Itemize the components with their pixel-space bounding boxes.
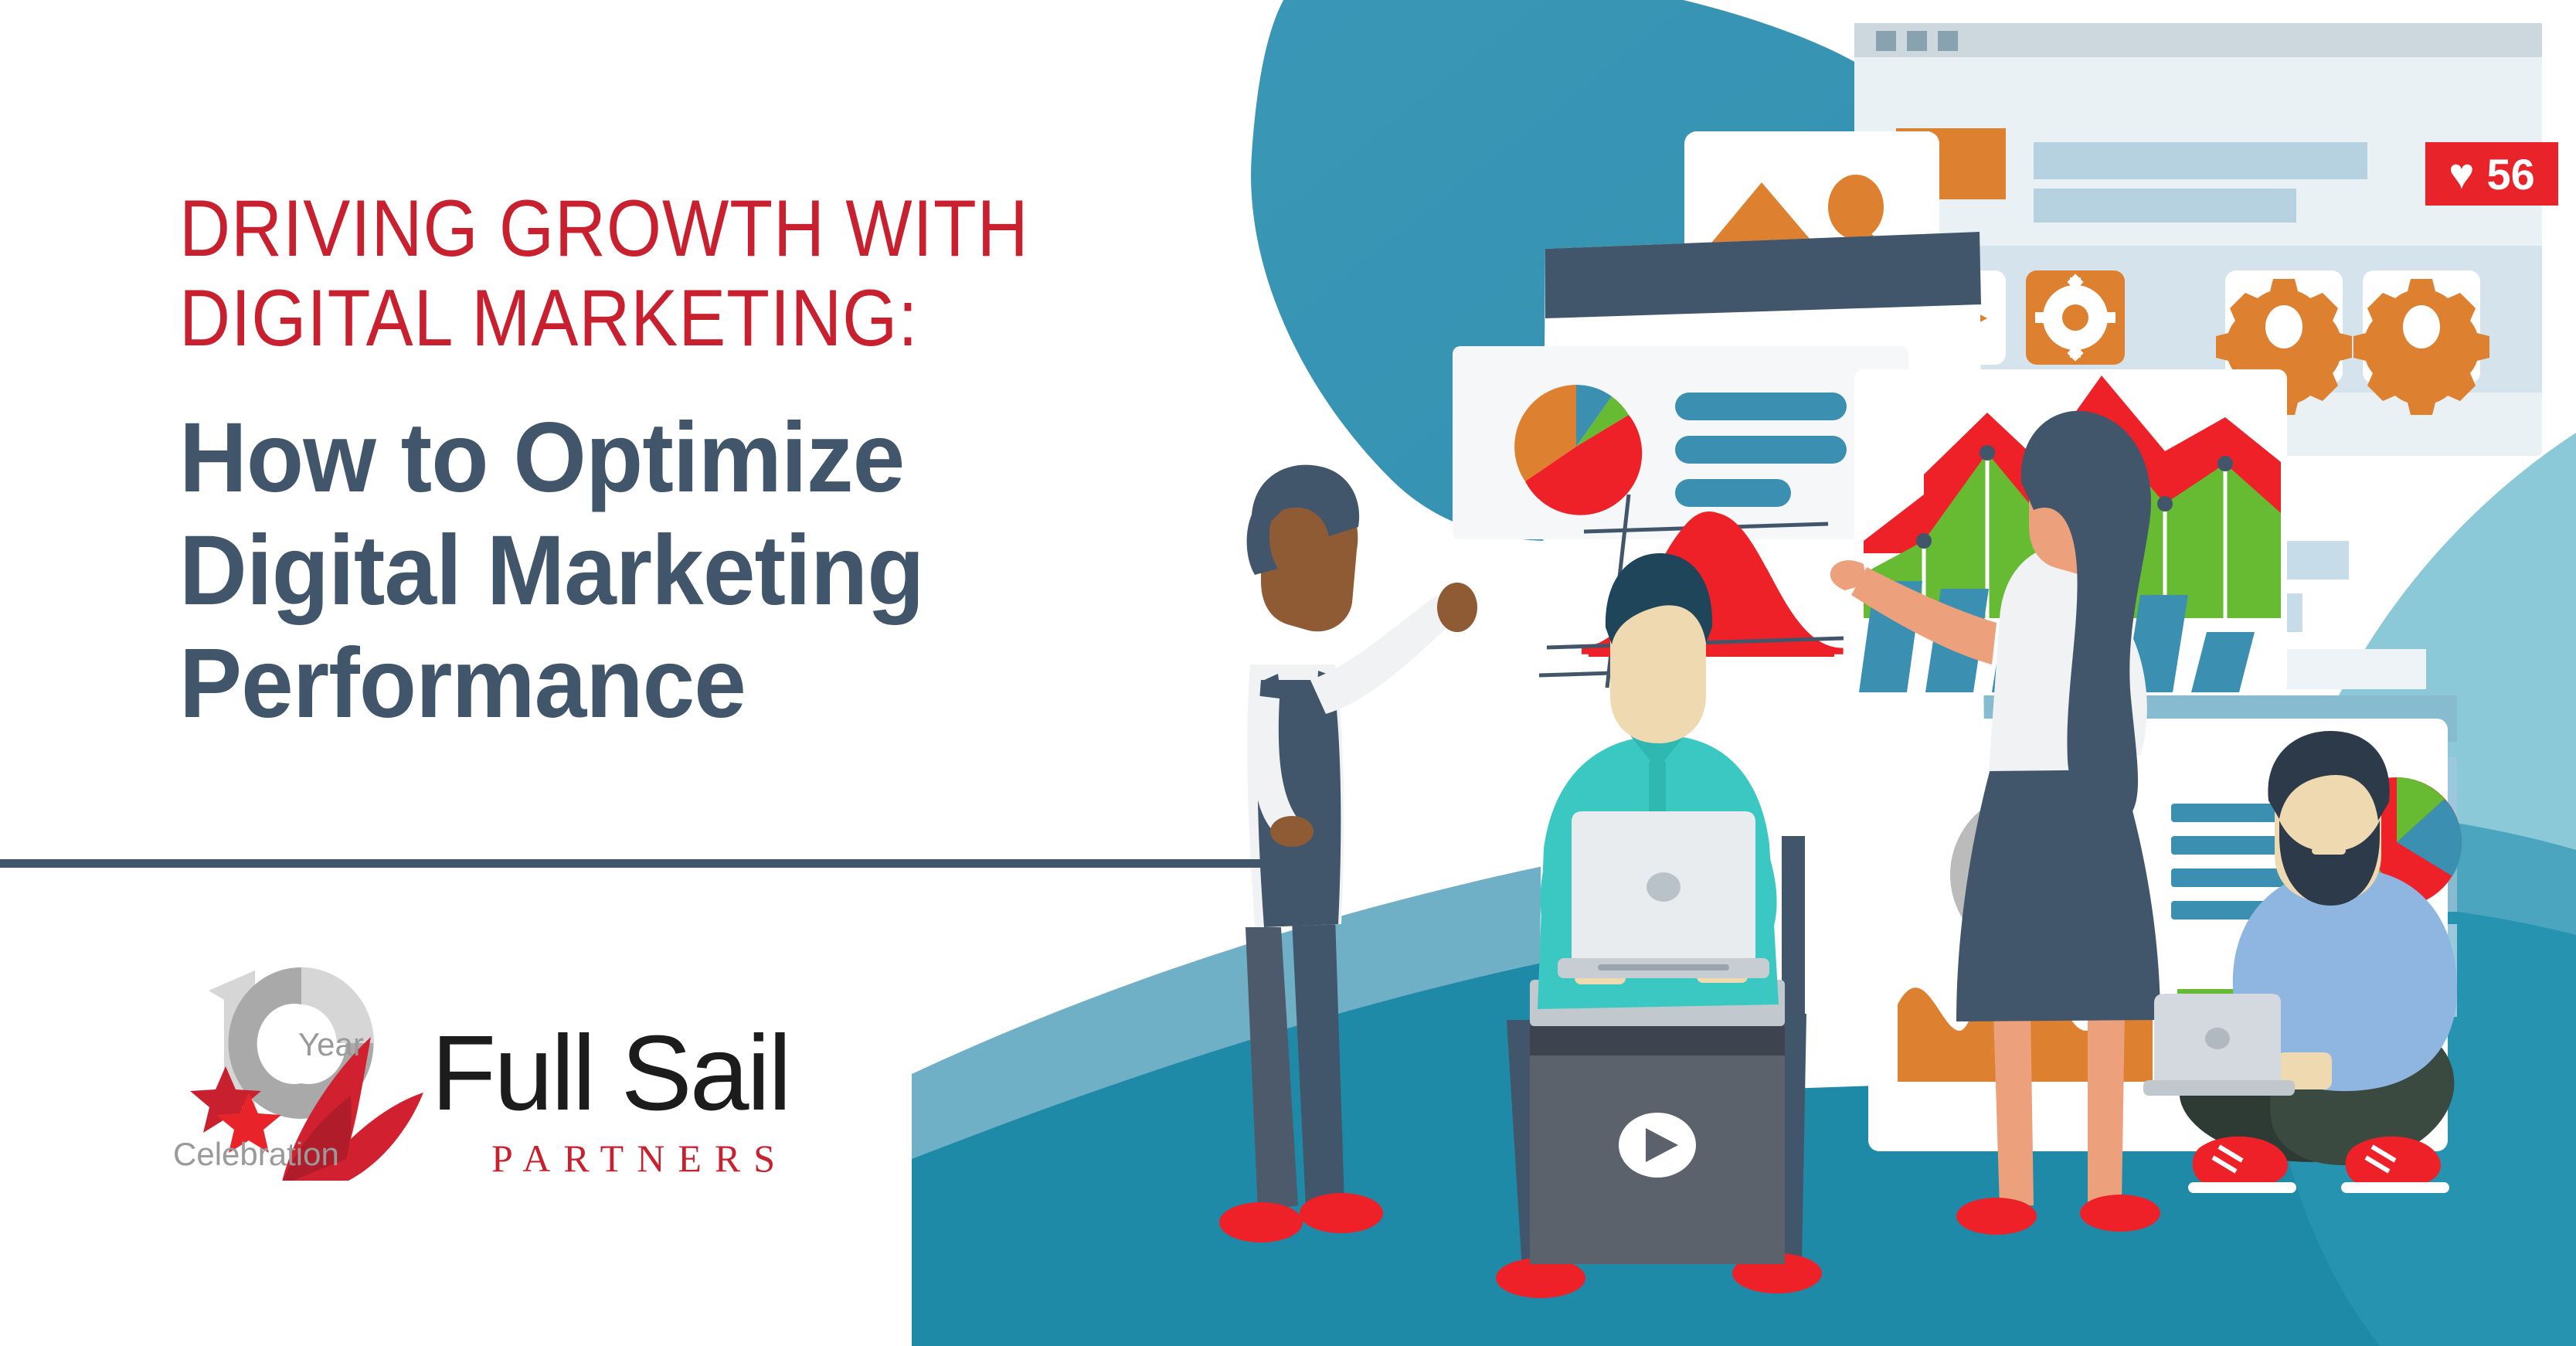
anniversary-year-label: Year (298, 1026, 364, 1062)
page-title: How to Optimize Digital Marketing Perfor… (179, 402, 1222, 740)
hand (1437, 583, 1477, 632)
company-name: Full Sail (431, 1020, 790, 1127)
marketing-banner: 👍 125K ♥ 56 DRIVING GROWTH WITH DIGITAL … (0, 0, 2576, 1346)
settings-tile-orange (2026, 270, 2125, 365)
heart-count: 56 (2486, 149, 2534, 199)
divider (0, 859, 1292, 868)
eyebrow-text: DRIVING GROWTH WITH DIGITAL MARKETING: (179, 184, 1063, 364)
heart-badge: ♥ 56 (2425, 142, 2558, 206)
anniversary-celebration-label: Celebration (173, 1136, 339, 1172)
company-logo: Year Celebration Full Sail PARTNERS (168, 952, 941, 1191)
report-card-pie (1453, 346, 1908, 539)
anniversary-badge: Year Celebration (168, 957, 423, 1181)
heart-icon: ♥ (2449, 152, 2474, 195)
company-suffix: PARTNERS (491, 1139, 790, 1178)
play-circle-icon (1619, 1113, 1696, 1178)
image-icon (1828, 175, 1884, 240)
